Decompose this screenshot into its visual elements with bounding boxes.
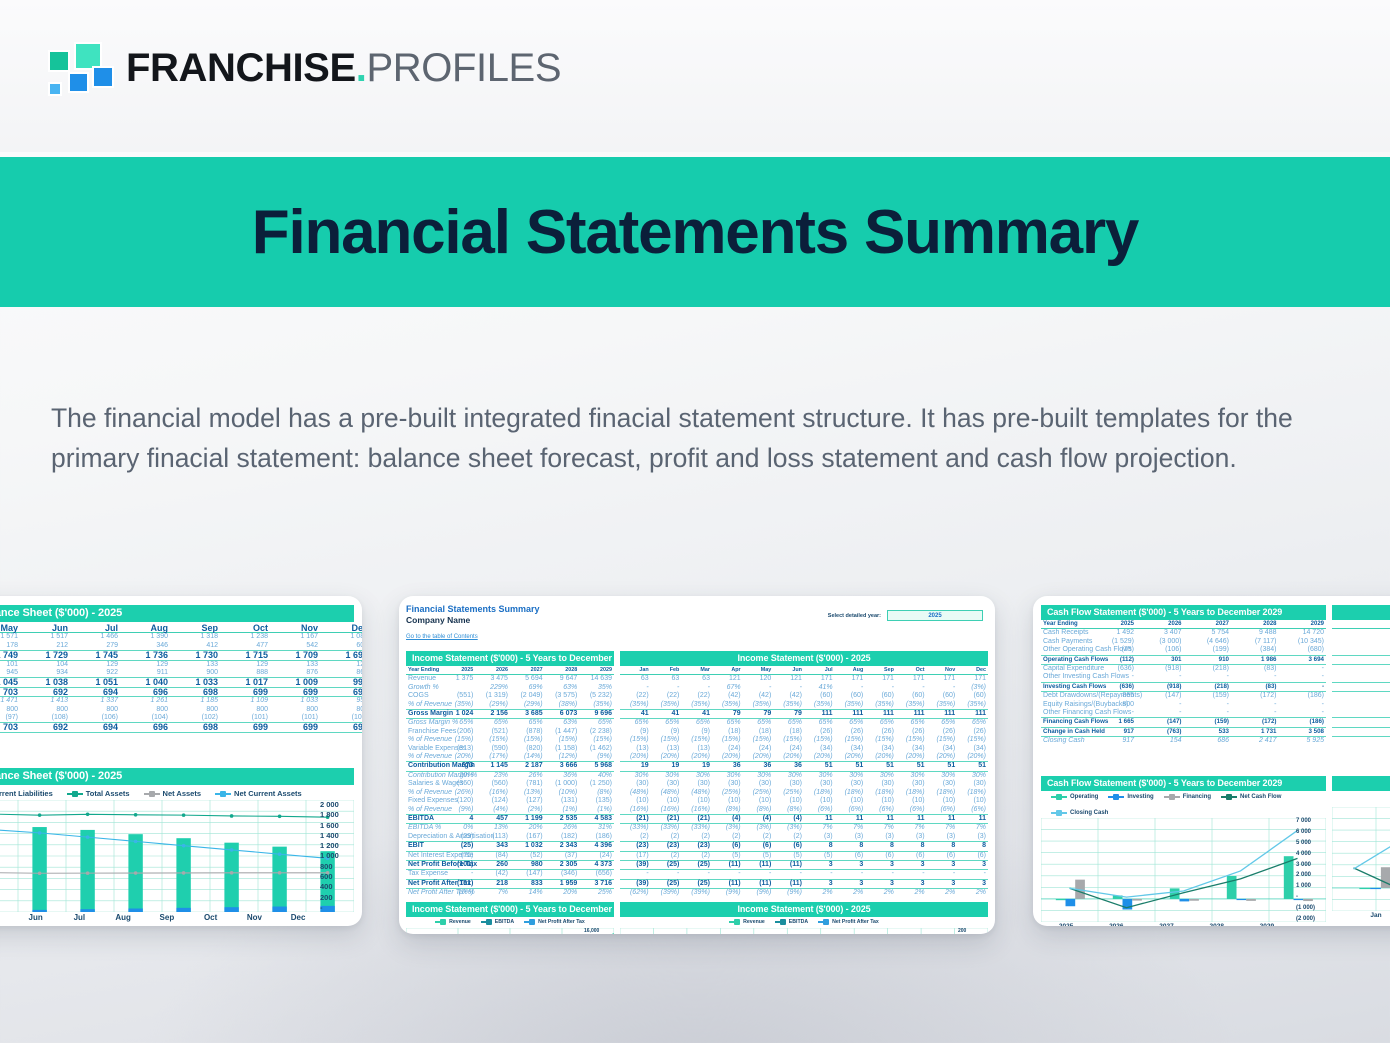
table-cell: 1 017 <box>220 678 270 687</box>
row-label: Debt Drawdowns/(Repayments) <box>1041 692 1089 701</box>
table-cell: 0% <box>441 824 476 833</box>
table-cell: 1 145 <box>475 762 510 771</box>
year-selector-input[interactable]: 2025 <box>887 610 983 621</box>
table-cell: (48%) <box>651 789 682 797</box>
table-cell: 3 <box>865 879 896 888</box>
table-cell: 2% <box>804 889 835 898</box>
table-cell: 696 <box>120 723 170 732</box>
table-cell: 14 639 <box>579 675 614 684</box>
table-cell: (22) <box>651 692 682 700</box>
income-statement-2025-table: JanFebMarAprMayJunJulAugSepOctNovDec6363… <box>620 666 988 898</box>
table-cell: 120 <box>743 675 774 684</box>
table-row: (9)(9)(9)(18)(18)(18)(26)(26)(26)(26)(26… <box>620 728 988 736</box>
legend-item: Operating <box>1051 794 1098 800</box>
table-cell: 1 413 <box>20 697 70 706</box>
legend-item: EBITDA <box>481 919 514 925</box>
table-cell: 958 <box>320 697 362 706</box>
table-row: Other Operating Cash Flows(75)(106)(199)… <box>1041 646 1326 655</box>
table-cell: 218 <box>475 879 510 888</box>
table-cell: (18%) <box>804 789 835 797</box>
balance-sheet-table-section: Balance Sheet ($'000) - 2025 MayJunJulAu… <box>0 605 362 733</box>
table-cell: 800 <box>120 706 170 714</box>
table-cell: 980 <box>510 860 545 869</box>
table-cell: (15%) <box>896 736 927 744</box>
table-cell: (182) <box>545 833 580 842</box>
table-cell: - <box>651 684 682 692</box>
legend-label: Investing <box>1127 794 1153 800</box>
table-row: Equity Raisings/(Buybacks)800---- <box>1041 701 1326 709</box>
axis-tick: 2029 <box>1242 923 1292 926</box>
column-header: 2027 <box>510 666 545 675</box>
axis-tick: 600 <box>320 872 354 881</box>
table-row: (10)(10)(10)(10)(10)(10)(10)(10)(10)(10)… <box>620 797 988 805</box>
table-cell: (5) <box>773 851 804 860</box>
axis-tick: 2027 <box>1141 923 1191 926</box>
table-cell: 63% <box>545 684 580 692</box>
table-cell: 833 <box>510 879 545 888</box>
column-header: May <box>0 624 20 633</box>
table-cell: (3) <box>835 833 866 842</box>
table-row: 703692694696698699699699 <box>0 723 362 732</box>
balance-sheet-x-axis: MayJunJulAugSepOctNovDec <box>0 913 320 922</box>
table-row: (20%)(20%)(20%)(20%)(20%)(20%)(20%)(20%)… <box>620 753 988 762</box>
table-cell: 133 <box>270 660 320 669</box>
column-header: Apr <box>712 666 743 675</box>
table-header-row: Year Ending20252026202720282029 <box>1041 620 1326 629</box>
table-cell: (16%) <box>475 789 510 797</box>
table-row: (62%)(39%)(39%)(9%)(9%)(9%)2%2%2%2%2%2% <box>620 889 988 898</box>
legend-swatch-icon <box>1051 796 1067 798</box>
table-cell: (5 232) <box>579 692 614 700</box>
table-cell: 111 <box>896 710 927 719</box>
table-cell: 30% <box>896 771 927 780</box>
legend-label: Total Assets <box>86 789 130 798</box>
axis-tick: - <box>320 903 354 912</box>
table-cell: (30) <box>927 780 958 788</box>
table-cell: 3 <box>927 860 958 869</box>
row-label: Other Operating Cash Flows <box>1041 646 1089 655</box>
table-cell: (15%) <box>681 736 712 744</box>
table-cell: (6) <box>927 851 958 860</box>
table-cell: (18%) <box>896 789 927 797</box>
brand-name-dot: . <box>356 46 367 90</box>
table-row: (13)(13)(13)(24)(24)(24)(34)(34)(34)(34)… <box>620 745 988 753</box>
table-cell: 111 <box>804 710 835 719</box>
table-cell: (135) <box>579 797 614 805</box>
axis-tick: 1 000 <box>320 851 354 860</box>
table-row: 800 <box>1332 701 1390 709</box>
table-cell: (15%) <box>545 736 580 744</box>
row-label: Variable Expenses <box>406 745 441 753</box>
table-cell: (26) <box>896 728 927 736</box>
legend-label: Net Profit After Tax <box>832 919 879 925</box>
table-cell: 8 <box>835 842 866 851</box>
table-cell: 26% <box>545 824 580 833</box>
table-cell: 19 <box>651 762 682 771</box>
table-cell: (47) <box>1332 638 1390 646</box>
table-cell: (159) <box>1184 718 1232 727</box>
table-cell: (52) <box>510 851 545 860</box>
table-cell: (39%) <box>651 889 682 898</box>
table-row: Financing Cash Flows1 665(147)(159)(172)… <box>1041 718 1326 727</box>
table-cell: 692 <box>20 723 70 732</box>
row-label: % of Revenue <box>406 753 441 762</box>
table-cell: - <box>681 684 712 692</box>
table-cell: (918) <box>1136 682 1184 691</box>
table-cell: (147) <box>1136 718 1184 727</box>
table-cell: (7 117) <box>1231 638 1279 646</box>
table-cell: 3 <box>835 879 866 888</box>
table-cell: (6) <box>712 842 743 851</box>
table-cell: (34) <box>835 745 866 753</box>
table-cell: 800 <box>0 706 20 714</box>
legend-swatch-icon <box>524 921 535 923</box>
table-cell: (62%) <box>620 889 651 898</box>
table-cell: (3%) <box>773 824 804 833</box>
table-cell: 40% <box>579 771 614 780</box>
table-cell: - <box>1231 673 1279 682</box>
table-cell: (48%) <box>681 789 712 797</box>
year-selector[interactable]: Select detailed year: 2025 <box>828 610 983 621</box>
table-cell: (384) <box>1231 646 1279 655</box>
table-row: ------------ <box>620 870 988 879</box>
table-cell: 65% <box>651 719 682 728</box>
table-cell: 171 <box>804 675 835 684</box>
table-cell: (34) <box>804 745 835 753</box>
column-header: Jul <box>804 666 835 675</box>
table-cell: (24) <box>712 745 743 753</box>
legend-item: EBITDA <box>775 919 808 925</box>
table-cell: 5 925 <box>1279 737 1327 746</box>
table-cell <box>441 684 476 692</box>
table-cell: 6 073 <box>545 710 580 719</box>
table-cell: (21) <box>620 814 651 823</box>
table-row: - <box>1332 709 1390 718</box>
table-cell: 51 <box>835 762 866 771</box>
legend-label: Revenue <box>449 919 471 925</box>
table-cell: - <box>1136 709 1184 718</box>
table-cell: (36) <box>1332 682 1390 691</box>
table-cell: (6%) <box>865 806 896 815</box>
table-row: Growth %229%69%63%35% <box>406 684 614 692</box>
income-chart-5yr-legend: RevenueEBITDANet Profit After Tax <box>406 917 614 926</box>
table-cell: 51 <box>927 762 958 771</box>
legend-label: Current Liabilities <box>0 789 53 798</box>
table-cell: 2% <box>865 889 896 898</box>
brand-name-light: PROFILES <box>366 46 561 90</box>
table-row: Salaries & Wages(360)(560)(781)(1 000)(1… <box>406 780 614 788</box>
table-cell: 1 238 <box>220 633 270 642</box>
column-header: 2029 <box>1279 620 1327 629</box>
row-label: % of Revenue <box>406 701 441 710</box>
table-cell: (39) <box>620 879 651 888</box>
table-row: 1 731 <box>1332 727 1390 736</box>
table-cell: - <box>620 870 651 879</box>
table-cell: (11) <box>712 860 743 869</box>
table-cell: (21) <box>651 814 682 823</box>
row-label: COGS <box>406 692 441 700</box>
axis-tick: 2025 <box>1041 923 1091 926</box>
balance-sheet-title: Balance Sheet ($'000) - 2025 <box>0 605 354 622</box>
table-cell: (9) <box>651 728 682 736</box>
table-cell: 65% <box>475 719 510 728</box>
table-row: Cash Payments(1 529)(3 000)(4 646)(7 117… <box>1041 638 1326 646</box>
table-cell: (4) <box>773 814 804 823</box>
intro-paragraph: The financial model has a pre-built inte… <box>51 398 1336 478</box>
column-header: Jan <box>620 666 651 675</box>
table-cell: 23% <box>475 771 510 780</box>
table-cell: 41% <box>804 684 835 692</box>
table-cell: (1%) <box>545 806 580 815</box>
legend-label: EBITDA <box>789 919 808 925</box>
table-cell: (15%) <box>651 736 682 744</box>
table-cell: - <box>1279 709 1327 718</box>
table-cell: 301 <box>1136 655 1184 664</box>
table-row: Capital Expenditure(636)(918)(218)(83)- <box>1041 665 1326 674</box>
cash-flow-chart-legend: OperatingInvestingFinancingNet Cash Flow… <box>1041 791 1326 818</box>
table-cell: 2 187 <box>510 762 545 771</box>
table-header-row: Jan <box>1332 620 1390 629</box>
balance-sheet-chart-section: Balance Sheet ($'000) - 2025 Current Lia… <box>0 768 362 926</box>
table-cell: 457 <box>475 814 510 823</box>
table-row: (36) <box>1332 665 1390 674</box>
table-cell: (20%) <box>804 753 835 762</box>
table-cell: (560) <box>475 780 510 788</box>
table-cell: 1 009 <box>270 678 320 687</box>
table-cell: 1 167 <box>270 633 320 642</box>
table-cell: 3 <box>957 860 988 869</box>
column-header: Year Ending <box>406 666 441 675</box>
table-cell: 30% <box>681 771 712 780</box>
table-cell: 1 986 <box>1231 655 1279 664</box>
table-cell: (30) <box>773 780 804 788</box>
table-row: 703692694696698699699699 <box>0 687 362 696</box>
title-banner: Financial Statements Summary <box>0 157 1390 307</box>
table-cell: (18) <box>712 728 743 736</box>
table-cell: (8%) <box>743 806 774 815</box>
row-label: Cash Payments <box>1041 638 1089 646</box>
table-of-contents-link[interactable]: Go to the table of Contents <box>406 634 478 640</box>
legend-swatch-icon <box>818 921 829 923</box>
table-cell: 65% <box>510 719 545 728</box>
table-cell: (1%) <box>579 806 614 815</box>
row-label: Gross Margin <box>406 710 441 719</box>
table-cell: (60) <box>927 692 958 700</box>
table-cell: 1 492 <box>1089 629 1137 638</box>
column-header: Jan <box>1332 620 1390 629</box>
table-cell: (1 447) <box>545 728 580 736</box>
table-cell: 1 040 <box>120 678 170 687</box>
column-header: Dec <box>320 624 362 633</box>
table-cell: (35%) <box>743 701 774 710</box>
table-cell: (30) <box>896 780 927 788</box>
axis-tick: 200 <box>958 928 988 934</box>
table-cell: (48%) <box>620 789 651 797</box>
table-cell: (1 250) <box>579 780 614 788</box>
table-cell: (147) <box>1136 692 1184 701</box>
cash-flow-table: Year Ending20252026202720282029Cash Rece… <box>1041 620 1326 746</box>
table-cell: (34) <box>927 745 958 753</box>
table-row: 191919363636515151515151 <box>620 762 988 771</box>
table-cell: (17) <box>620 851 651 860</box>
table-row: Contribution Margin6731 1452 1873 6665 9… <box>406 762 614 771</box>
table-cell: 20% <box>545 889 580 898</box>
income-chart-2025-legend: RevenueEBITDANet Profit After Tax <box>620 917 988 926</box>
table-cell: 30% <box>835 771 866 780</box>
table-cell: 11 <box>804 814 835 823</box>
table-cell: 7% <box>865 824 896 833</box>
legend-swatch-icon <box>1108 796 1124 798</box>
legend-swatch-icon <box>775 921 786 923</box>
table-cell: 7% <box>957 824 988 833</box>
table-cell: (218) <box>1184 665 1232 674</box>
axis-tick: 6 000 <box>1296 829 1326 835</box>
table-cell: (25) <box>681 879 712 888</box>
table-cell: (38%) <box>545 701 580 710</box>
axis-tick: 2 000 <box>320 800 354 809</box>
table-cell: (1 158) <box>545 745 580 753</box>
table-cell: 694 <box>70 687 120 696</box>
table-cell: 11 <box>835 814 866 823</box>
table-row: (36) <box>1332 682 1390 691</box>
column-header: Dec <box>957 666 988 675</box>
table-row: Variable Expenses(313)(590)(820)(1 158)(… <box>406 745 614 753</box>
table-cell: (6%) <box>896 806 927 815</box>
table-cell: 1 261 <box>120 697 170 706</box>
table-cell: (590) <box>475 745 510 753</box>
financial-summary-card[interactable]: Financial Statements Summary Company Nam… <box>399 596 995 934</box>
balance-sheet-card[interactable]: Balance Sheet ($'000) - 2025 MayJunJulAu… <box>0 596 362 926</box>
cash-flow-card[interactable]: Cash Flow Statement ($'000) - 5 Years to… <box>1033 596 1390 926</box>
table-row: (33%)(33%)(33%)(3%)(3%)(3%)7%7%7%7%7%7% <box>620 824 988 833</box>
table-cell: 41 <box>681 710 712 719</box>
legend-label: Revenue <box>743 919 765 925</box>
column-header: Year Ending <box>1041 620 1089 629</box>
axis-tick: 2 000 <box>1296 872 1326 878</box>
table-cell: (20%) <box>773 753 804 762</box>
table-cell: (3) <box>896 833 927 842</box>
table-cell: (3%) <box>957 684 988 692</box>
table-cell: (2) <box>651 833 682 842</box>
table-cell: 129 <box>70 660 120 669</box>
row-label: Net Profit After Tax <box>406 879 441 888</box>
table-cell: 129 <box>120 660 170 669</box>
axis-tick: 2026 <box>1091 923 1141 926</box>
table-cell: 1 731 <box>1231 727 1279 736</box>
axis-tick: 1 000 <box>1296 883 1326 889</box>
table-row: Closing Cash9171546862 4175 925 <box>1041 737 1326 746</box>
table-cell: (15%) <box>835 736 866 744</box>
table-cell: (30) <box>743 780 774 788</box>
table-cell: 1 109 <box>220 697 270 706</box>
table-cell: 35% <box>579 684 614 692</box>
table-cell: (25) <box>651 860 682 869</box>
table-cell: 36 <box>743 762 774 771</box>
table-cell: 63 <box>681 675 712 684</box>
table-cell: (20%) <box>835 753 866 762</box>
table-cell: (35%) <box>579 701 614 710</box>
legend-item: Financing <box>1164 794 1211 800</box>
table-cell: 3 <box>835 860 866 869</box>
row-label: Revenue <box>406 675 441 684</box>
table-row: COGS(551)(1 319)(2 049)(3 575)(5 232) <box>406 692 614 700</box>
legend-swatch-icon <box>1164 796 1180 798</box>
table-cell: 989 <box>1332 692 1390 701</box>
table-cell: (83) <box>1231 665 1279 674</box>
table-cell: 800 <box>220 706 270 714</box>
table-cell: (10) <box>651 797 682 805</box>
table-cell: (6) <box>896 851 927 860</box>
table-cell: 229% <box>475 684 510 692</box>
table-row: 989 <box>1332 692 1390 701</box>
table-row: % of Revenue(20%)(17%)(14%)(12%)(9%) <box>406 753 614 762</box>
table-cell: 2% <box>957 889 988 898</box>
axis-tick: Nov <box>233 913 277 922</box>
row-label: Salaries & Wages <box>406 780 441 788</box>
table-cell: 1 032 <box>510 842 545 851</box>
row-label: % of Revenue <box>406 789 441 797</box>
table-row: EBIT(25)3431 0322 3434 396 <box>406 842 614 851</box>
table-cell: (18%) <box>835 789 866 797</box>
table-cell: (5) <box>712 851 743 860</box>
table-cell: (25) <box>681 860 712 869</box>
legend-swatch-icon <box>215 793 231 795</box>
column-header: 2026 <box>475 666 510 675</box>
axis-tick: 200 <box>320 893 354 902</box>
table-row: 65%65%65%65%65%65%65%65%65%65%65%65% <box>620 719 988 728</box>
income-chart-5yr-plot: 16,00014,00012,00010,0008,0006,0004,0002… <box>406 928 614 934</box>
table-cell: (42) <box>773 692 804 700</box>
table-cell: 2 156 <box>475 710 510 719</box>
table-cell: (33%) <box>620 824 651 833</box>
table-cell: (29%) <box>475 701 510 710</box>
table-row: Investing Cash Flows(636)(918)(218)(83)- <box>1041 682 1326 691</box>
table-cell: (23) <box>620 842 651 851</box>
income-chart-5yr-section: Income Statement ($'000) - 5 Years to De… <box>406 902 614 934</box>
table-cell: (4 646) <box>1184 638 1232 646</box>
table-cell: 699 <box>320 723 362 732</box>
table-cell: 8 <box>927 842 958 851</box>
cash-flow-month-table: Jan32(47)(7)(22)(36)-(36)989800-1 7891 7… <box>1332 620 1390 746</box>
table-cell: (30) <box>804 780 835 788</box>
table-cell: 1 736 <box>120 651 170 660</box>
row-label: Contribution Margin % <box>406 771 441 780</box>
row-label: EBITDA <box>406 814 441 823</box>
brand-wordmark: FRANCHISE.PROFILES <box>126 46 561 91</box>
table-cell: 703 <box>0 687 20 696</box>
row-label: Net Interest Expense <box>406 851 441 860</box>
table-cell: 25% <box>579 889 614 898</box>
axis-tick: 1 200 <box>320 841 354 850</box>
table-cell: - <box>773 684 804 692</box>
table-cell: (167) <box>510 833 545 842</box>
table-row: Revenue1 3753 4755 6949 64714 639 <box>406 675 614 684</box>
cash-flow-title: Cash Flow Statement ($'000) - 5 Years to… <box>1041 605 1326 620</box>
table-cell: (11) <box>743 879 774 888</box>
table-cell: (15%) <box>773 736 804 744</box>
axis-tick: 400 <box>320 882 354 891</box>
table-cell: (131) <box>545 797 580 805</box>
table-cell: - <box>1231 701 1279 709</box>
table-cell: 4 <box>441 814 476 823</box>
cash-flow-x-axis: 20252026202720282029 <box>1041 923 1292 926</box>
row-label: Tax Expense <box>406 870 441 879</box>
table-cell: (1 529) <box>1089 638 1137 646</box>
balance-sheet-table: MayJunJulAugSepOctNovDec1 5711 5171 4661… <box>0 624 362 733</box>
table-cell: - <box>1279 701 1327 709</box>
table-cell: (10) <box>865 797 896 805</box>
table-row: (22)(22)(22)(42)(42)(42)(60)(60)(60)(60)… <box>620 692 988 700</box>
